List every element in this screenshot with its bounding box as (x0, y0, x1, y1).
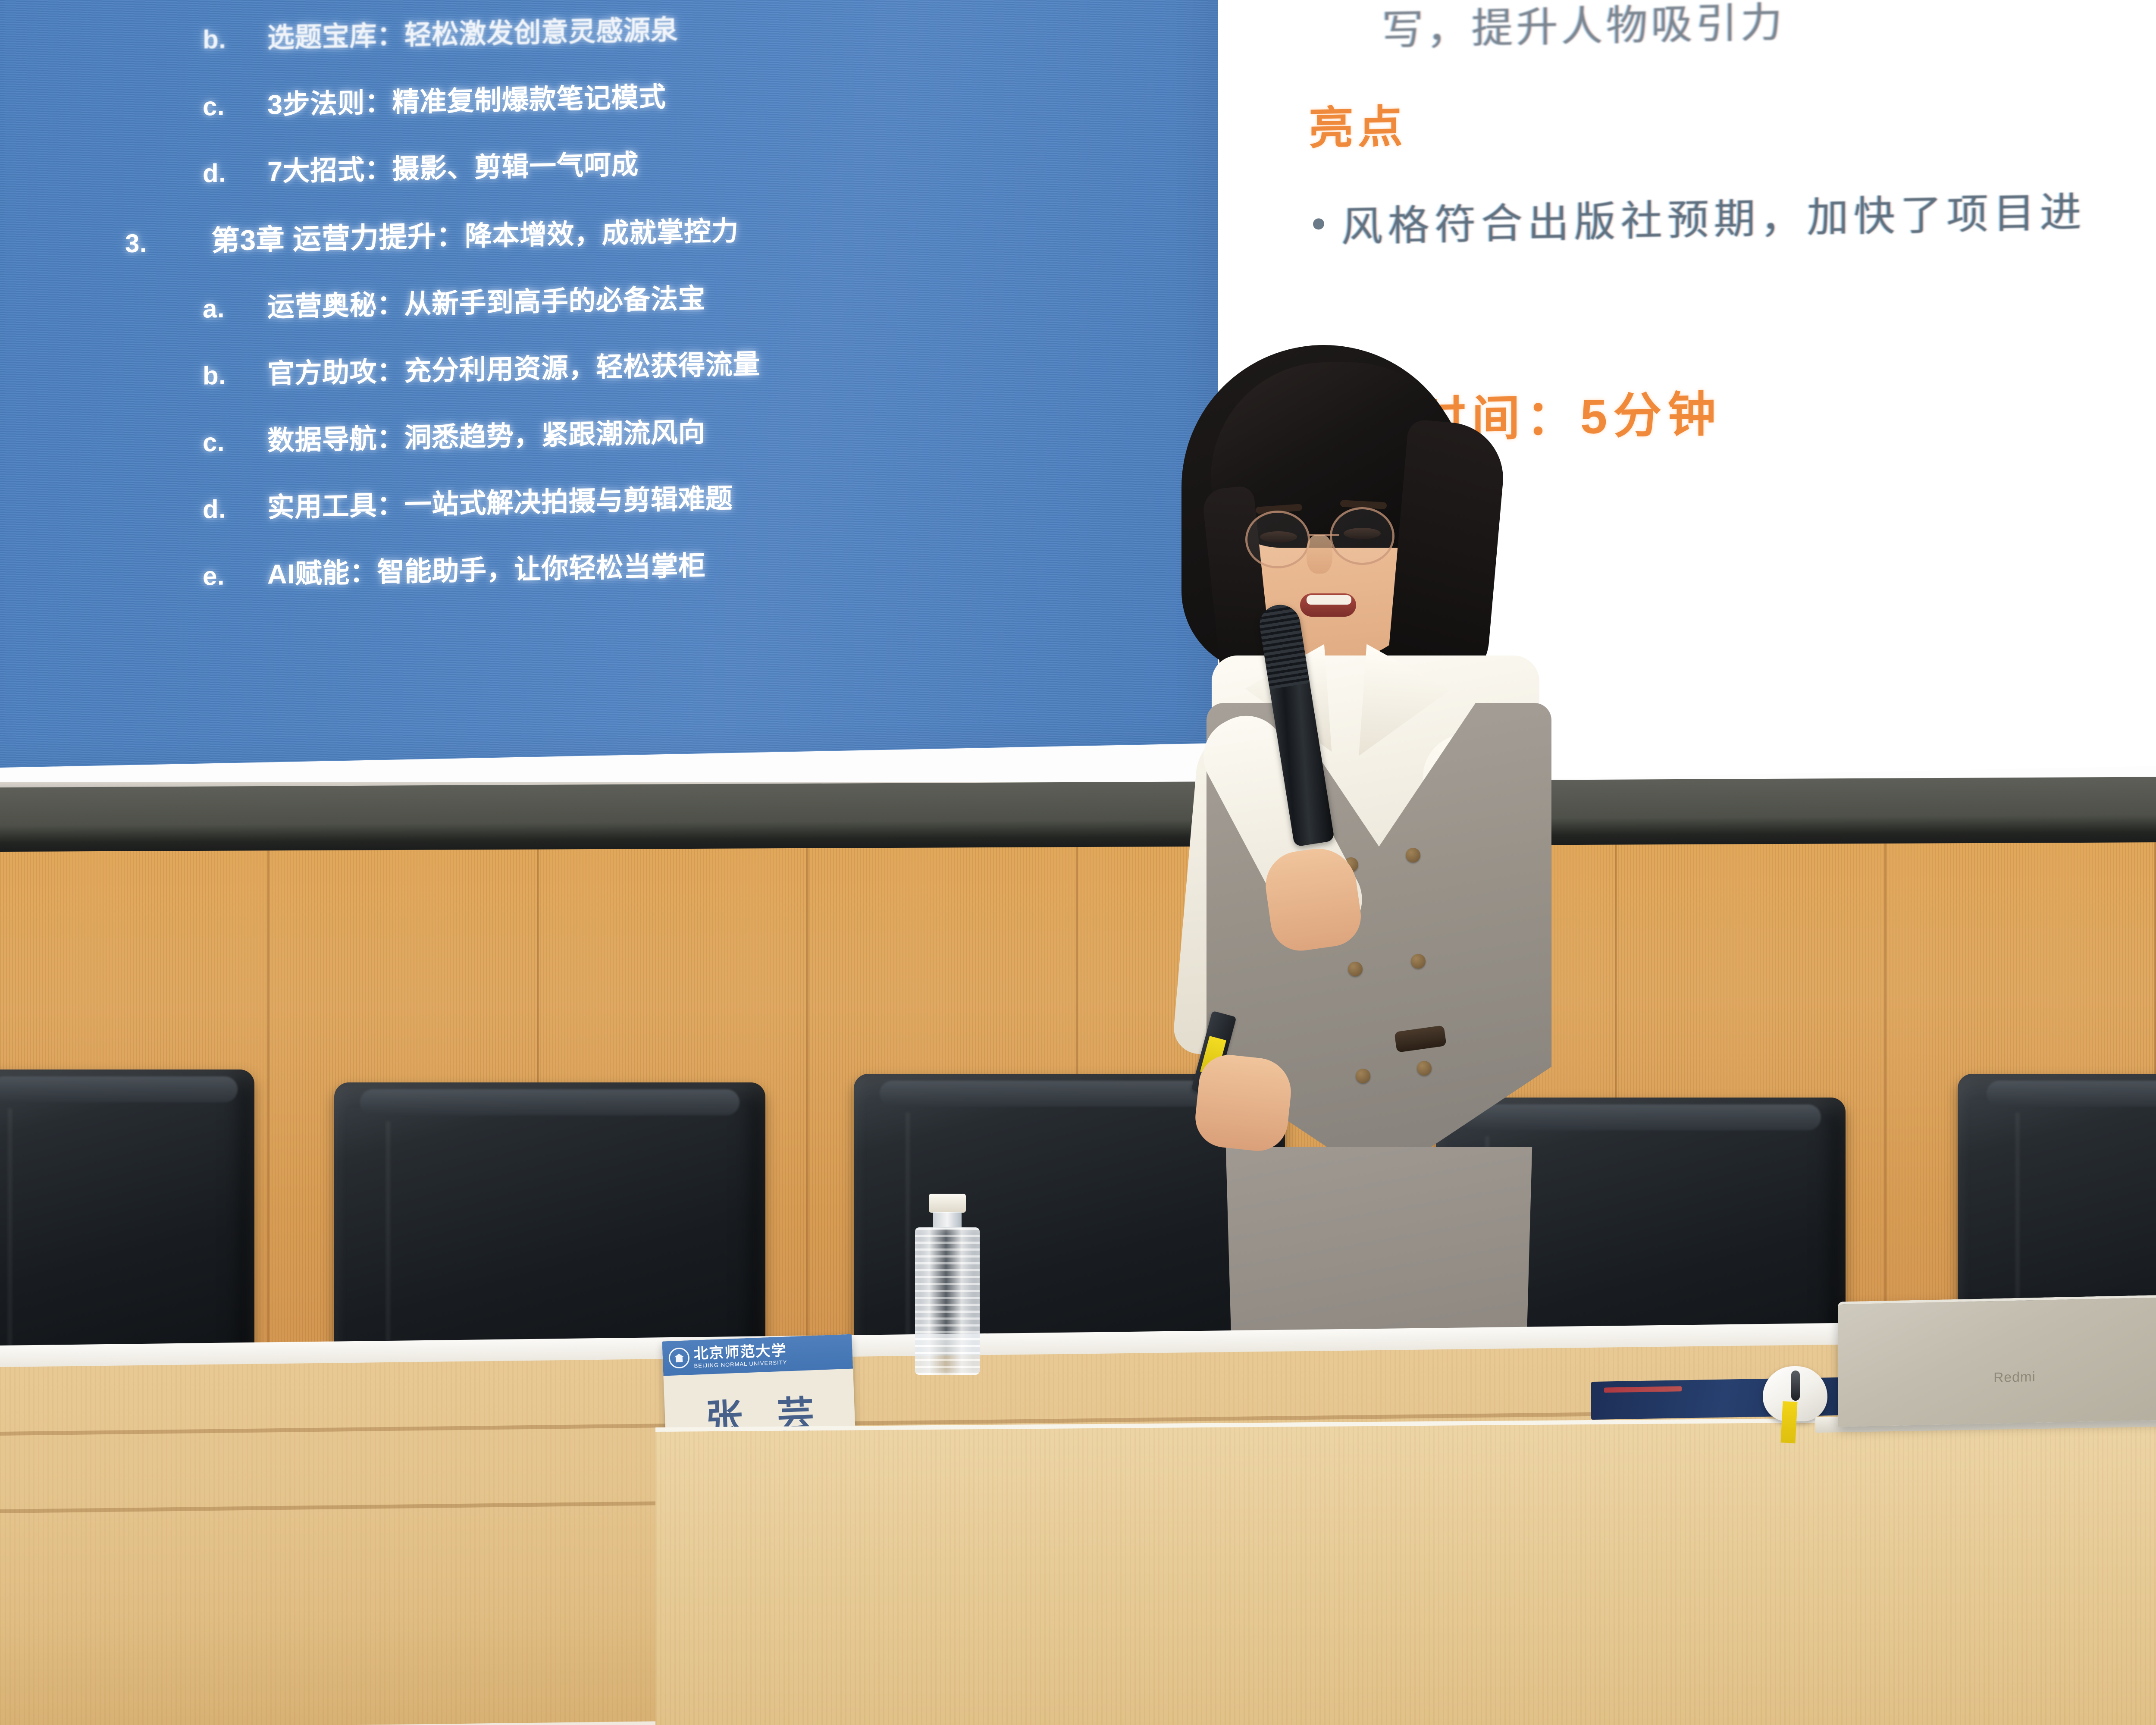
outline-marker: c. (203, 93, 267, 120)
bullet-dot-icon (1313, 218, 1324, 230)
projection-screen: b. 选题宝库： 轻松激发创意灵感源泉 c. 3步法则： 精准复制爆款笔记模式 … (0, 0, 2156, 793)
water-bottle[interactable] (911, 1194, 984, 1375)
outline-marker: a. (203, 295, 267, 322)
outline-row: b. 选题宝库： 轻松激发创意灵感源泉 (203, 6, 1207, 53)
outline-row: c. 数据导航： 洞悉趋势，紧跟潮流风向 (203, 409, 1207, 456)
slide-right-clipped-line: 写，提升人物吸引力 (1382, 0, 2156, 56)
outline-row: e. AI赋能： 智能助手，让你轻松当掌柜 (203, 543, 1207, 590)
outline-row-chapter: 3. 第3章 运营力提升： 降本增效，成就掌控力 (125, 207, 1207, 257)
outline-row: d. 实用工具： 一站式解决拍摄与剪辑难题 (203, 476, 1207, 523)
vest-button (1411, 954, 1426, 969)
outline-value: 轻松激发创意灵感源泉 (404, 16, 678, 49)
presenter (1104, 345, 1699, 1423)
outline-marker: d. (203, 160, 267, 187)
outline-value: 充分利用资源，轻松获得流量 (404, 351, 761, 386)
outline-value: 从新手到高手的必备法宝 (404, 285, 706, 318)
outline-row: c. 3步法则： 精准复制爆款笔记模式 (203, 73, 1207, 120)
outline-row: b. 官方助攻： 充分利用资源，轻松获得流量 (203, 342, 1207, 389)
outline-marker: b. (203, 362, 267, 389)
laptop-brand-label: Redmi (1993, 1369, 2035, 1386)
eyeglass-lens-left-icon (1245, 511, 1310, 568)
outline-value: 精准复制爆款笔记模式 (392, 84, 666, 116)
outline-key: 实用工具： (267, 492, 404, 521)
outline-marker: e. (203, 562, 267, 590)
slide-right-bullet-text: 风格符合出版社预期，加快了项目进 (1341, 179, 2087, 254)
outline-marker: 3. (125, 229, 211, 257)
outline-key: 数据导航： (267, 425, 404, 455)
outline-value: 降本增效，成就掌控力 (465, 218, 739, 251)
outline-marker: d. (203, 496, 267, 523)
vest-button (1417, 1061, 1432, 1076)
outline-row: a. 运营奥秘： 从新手到高手的必备法宝 (203, 275, 1207, 323)
presenter-nose (1307, 535, 1332, 574)
bottle-neck (933, 1212, 962, 1229)
presenter-hand-holding-clicker (1192, 1052, 1294, 1154)
slide-right-bullet-row: 风格符合出版社预期，加快了项目进 (1309, 168, 2156, 254)
nameplate-header-band: 北京师范大学 BEIJING NORMAL UNIVERSITY (662, 1334, 853, 1376)
presenter-teeth (1307, 595, 1351, 605)
outline-key: 运营奥秘： (267, 291, 404, 321)
outline-key: 第3章 运营力提升： (211, 221, 465, 255)
outline-value: 智能助手，让你轻松当掌柜 (377, 552, 706, 586)
outline-value: 一站式解决拍摄与剪辑难题 (404, 485, 733, 519)
university-seal-icon (668, 1347, 690, 1369)
outline-marker: b. (203, 26, 267, 53)
vest-button (1356, 1069, 1370, 1083)
outline-row: d. 7大招式： 摄影、剪辑一气呵成 (203, 140, 1207, 187)
vest-button (1348, 962, 1363, 976)
bottle-cap (929, 1194, 966, 1213)
desk-front-panel-center (655, 1416, 2156, 1725)
vest-button (1406, 848, 1420, 862)
outline-value: 摄影、剪辑一气呵成 (392, 151, 639, 183)
eyeglass-lens-right-icon (1330, 507, 1395, 565)
nameplate-university-cn: 北京师范大学 (693, 1343, 787, 1361)
outline-key: AI赋能： (267, 559, 377, 588)
outline-marker: c. (203, 429, 267, 456)
slide-left-blue: b. 选题宝库： 轻松激发创意灵感源泉 c. 3步法则： 精准复制爆款笔记模式 … (0, 0, 1218, 768)
bottle-body (915, 1227, 980, 1375)
outline-key: 官方助攻： (267, 358, 404, 388)
outline-key: 选题宝库： (267, 22, 404, 52)
outline-key: 7大招式： (267, 156, 392, 186)
slide-left-outline-list: b. 选题宝库： 轻松激发创意灵感源泉 c. 3步法则： 精准复制爆款笔记模式 … (203, 6, 1207, 630)
laptop[interactable]: Redmi (1838, 1294, 2156, 1427)
screenshot-root: b. 选题宝库： 轻松激发创意灵感源泉 c. 3步法则： 精准复制爆款笔记模式 … (0, 0, 2156, 1725)
outline-key: 3步法则： (267, 89, 392, 119)
outline-value: 洞悉趋势，紧跟潮流风向 (404, 419, 706, 452)
yellow-tape-marker (1781, 1401, 1798, 1443)
slide-right-heading: 亮点 (1309, 66, 2156, 157)
